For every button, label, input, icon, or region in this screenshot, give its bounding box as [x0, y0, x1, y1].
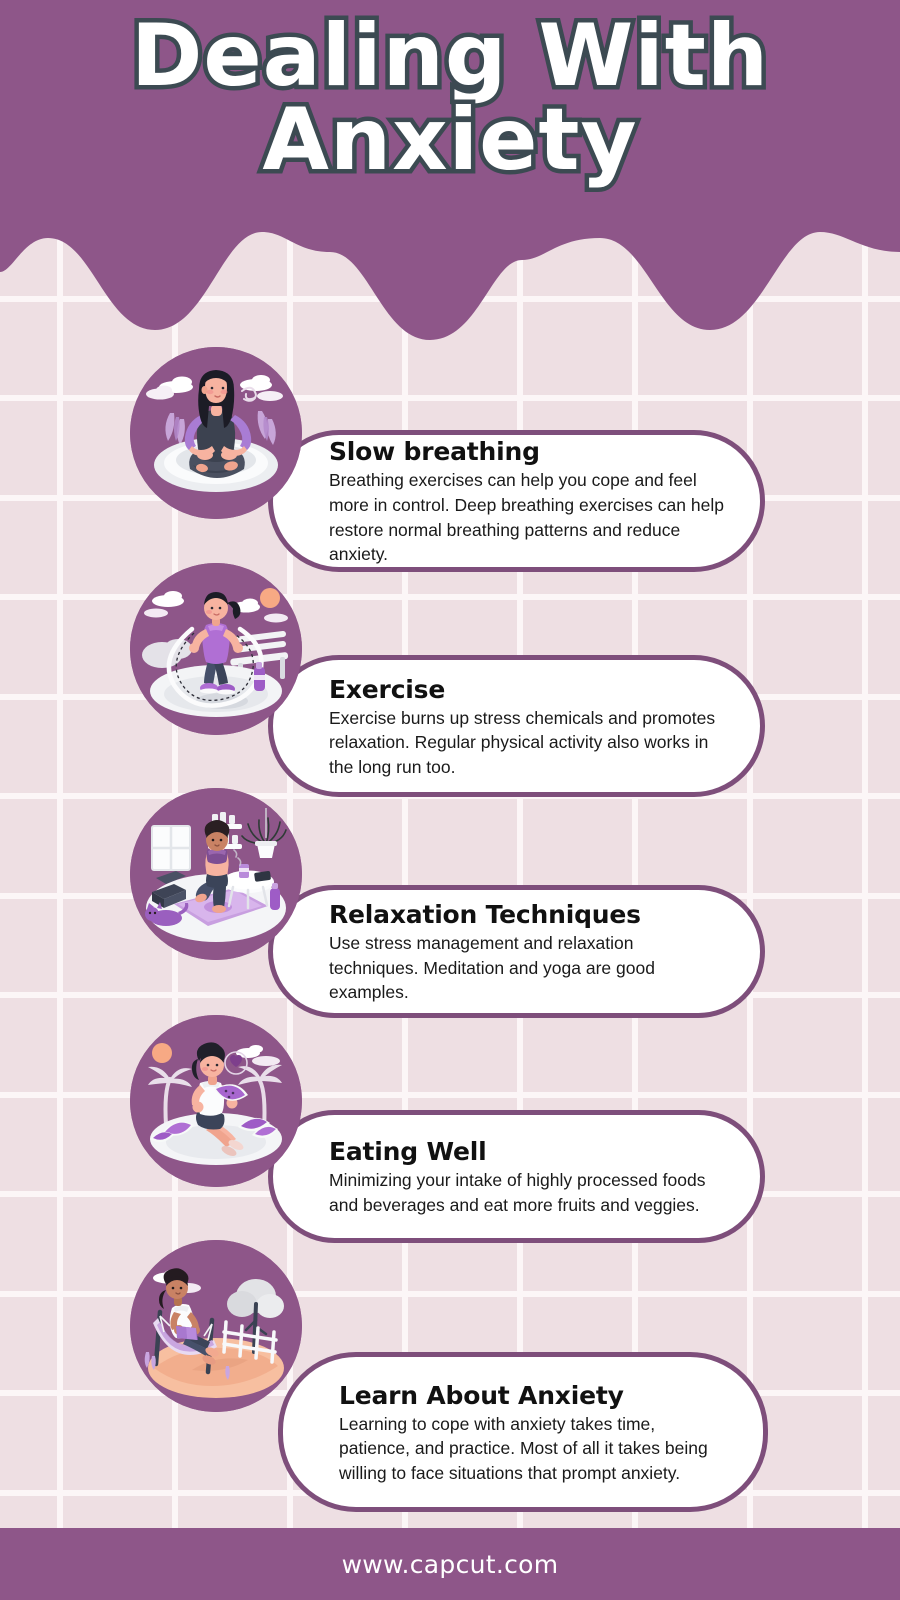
- card-title: Eating Well: [329, 1137, 726, 1166]
- footer-url[interactable]: www.capcut.com: [342, 1550, 559, 1579]
- card-body: Minimizing your intake of highly process…: [329, 1168, 726, 1217]
- card-title: Slow breathing: [329, 437, 726, 466]
- tip-card-exercise[interactable]: Exercise Exercise burns up stress chemic…: [268, 655, 765, 797]
- card-title: Exercise: [329, 675, 726, 704]
- woman-jumping-rope-icon: [130, 563, 302, 735]
- woman-meditating-icon: [130, 347, 302, 519]
- illustration-woman-jumping-rope-icon: [130, 563, 302, 735]
- illustration-woman-yoga-pose-icon: [130, 788, 302, 960]
- illustration-woman-eating-watermelon-icon: [130, 1015, 302, 1187]
- footer-bar: www.capcut.com: [0, 1528, 900, 1600]
- tip-card-relaxation-techniques[interactable]: Relaxation Techniques Use stress managem…: [268, 885, 765, 1018]
- woman-eating-watermelon-icon: [130, 1015, 302, 1187]
- card-title: Relaxation Techniques: [329, 900, 726, 929]
- woman-reading-hammock-icon: [130, 1240, 302, 1412]
- card-body: Learning to cope with anxiety takes time…: [339, 1412, 729, 1486]
- card-title: Learn About Anxiety: [339, 1381, 729, 1410]
- tip-card-slow-breathing[interactable]: Slow breathing Breathing exercises can h…: [268, 430, 765, 572]
- illustration-woman-meditating-icon: [130, 347, 302, 519]
- illustration-woman-reading-hammock-icon: [130, 1240, 302, 1412]
- tip-card-learn-about-anxiety[interactable]: Learn About Anxiety Learning to cope wit…: [278, 1352, 768, 1512]
- card-body: Exercise burns up stress chemicals and p…: [329, 706, 726, 780]
- card-body: Breathing exercises can help you cope an…: [329, 468, 726, 566]
- card-body: Use stress management and relaxation tec…: [329, 931, 726, 1005]
- tips-list: Slow breathing Breathing exercises can h…: [0, 0, 900, 1600]
- tip-card-eating-well[interactable]: Eating Well Minimizing your intake of hi…: [268, 1110, 765, 1243]
- woman-yoga-pose-icon: [130, 788, 302, 960]
